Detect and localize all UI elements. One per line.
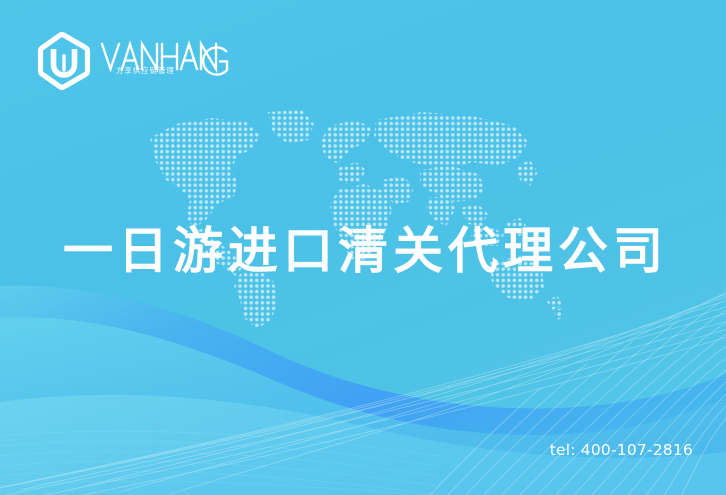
dotted-world-map [142,104,572,329]
vanhang-letters [100,38,230,84]
vanhang-hexagon-icon [36,32,92,90]
brand-subtitle: 方享供应链管理 [116,65,175,76]
brand-wordmark: 方享供应链管理 [100,32,230,90]
page-title: 一日游进口清关代理公司 [0,222,726,280]
weave-texture [0,431,440,495]
wave-secondary [0,317,726,495]
contact-phone[interactable]: tel: 400-107-2816 [550,441,693,459]
brand-logo[interactable]: 方享供应链管理 [36,31,230,91]
promo-banner: 方享供应链管理 一日游进口清关代理公司 tel: 400-107-2816 [0,0,726,495]
